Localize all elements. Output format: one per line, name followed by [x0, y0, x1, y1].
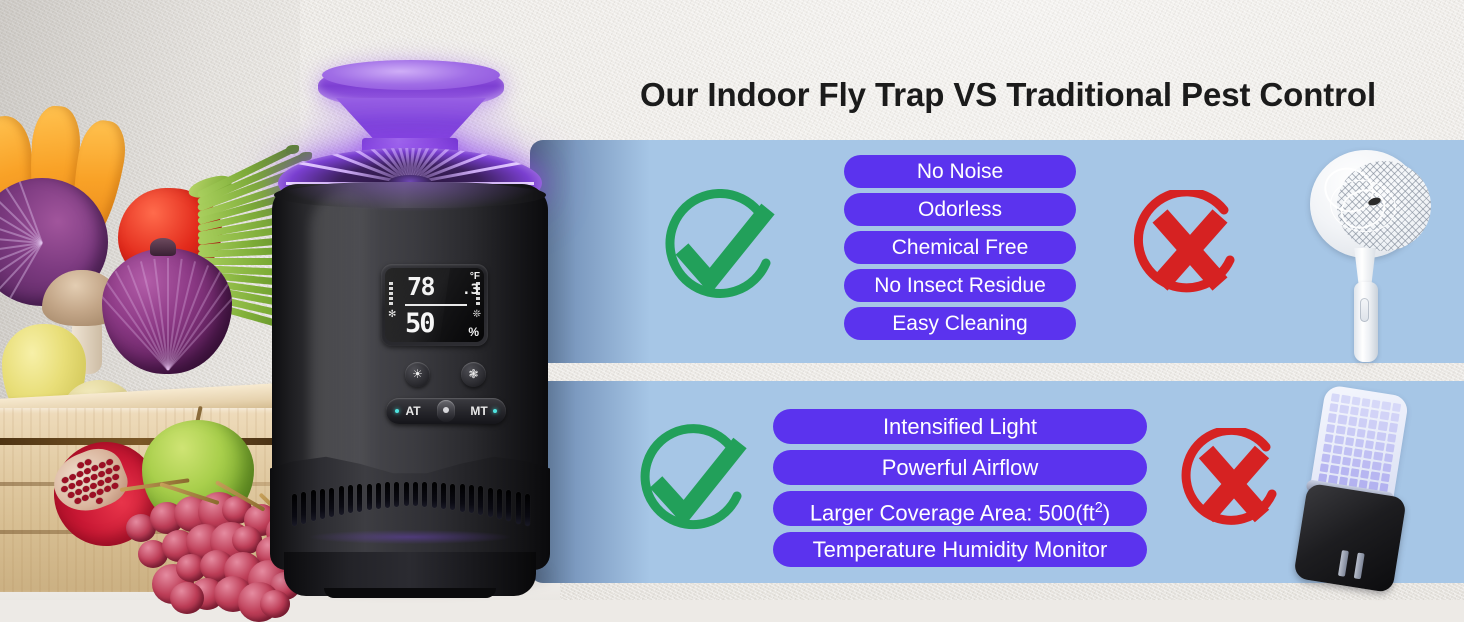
page-title: Our Indoor Fly Trap VS Traditional Pest … — [578, 76, 1438, 114]
cross-mark-icon-top — [1128, 190, 1250, 308]
snowflake-icon: ✻ — [388, 309, 396, 320]
rocker-knob[interactable] — [437, 400, 455, 422]
lcd-humidity-value: 50 — [405, 308, 434, 339]
coverage-superscript: 2 — [1095, 500, 1103, 516]
lcd-temperature-unit: °F — [470, 271, 480, 282]
check-mark-icon-top — [654, 189, 786, 309]
swatter-handle — [1354, 282, 1378, 362]
uv-lamp-disc-top — [322, 60, 500, 90]
coverage-suffix: ) — [1103, 500, 1110, 525]
lcd-temperature-value: 78 — [407, 272, 434, 301]
plugin-base — [1293, 483, 1407, 593]
lcd-temperature-decimal: .3 — [462, 282, 479, 298]
device-foot — [324, 588, 496, 598]
feature-pill[interactable]: Temperature Humidity Monitor — [773, 532, 1147, 567]
feature-pill[interactable]: Intensified Light — [773, 409, 1147, 444]
light-button[interactable]: ☀ — [405, 362, 430, 387]
feature-list-bottom: Intensified Light Powerful Airflow Large… — [773, 409, 1147, 567]
feature-pill[interactable]: Odorless — [844, 193, 1076, 226]
lcd-humidity-unit: % — [468, 325, 479, 339]
feature-pill-coverage[interactable]: Larger Coverage Area: 500(ft2) — [773, 491, 1147, 526]
feature-pill[interactable]: Powerful Airflow — [773, 450, 1147, 485]
cross-mark-icon-bottom — [1176, 428, 1290, 538]
led-indicator-left — [395, 409, 399, 413]
coverage-prefix: Larger Coverage Area: 500(ft — [810, 500, 1095, 525]
red-onion — [102, 248, 232, 374]
feature-pill[interactable]: No Insect Residue — [844, 269, 1076, 302]
check-mark-icon-bottom — [630, 424, 756, 540]
lcd-display-bezel: ✻ ❊ 78 °F .3 50 % — [381, 264, 488, 346]
led-indicator-right — [493, 409, 497, 413]
fan-icon: ❊ — [473, 309, 481, 320]
grape — [170, 582, 204, 614]
swatter-power-switch[interactable] — [1360, 298, 1369, 322]
vent-uv-spill — [310, 530, 510, 544]
onion-root-top — [150, 238, 176, 256]
competitor-plugin-uv-light — [1296, 390, 1416, 590]
feature-pill[interactable]: Chemical Free — [844, 231, 1076, 264]
infographic-canvas: Our Indoor Fly Trap VS Traditional Pest … — [0, 0, 1464, 600]
mode-button-mt[interactable]: MT — [452, 398, 506, 424]
feature-pill[interactable]: No Noise — [844, 155, 1076, 188]
lcd-divider — [405, 304, 467, 306]
feature-pill[interactable]: Easy Cleaning — [844, 307, 1076, 340]
fan-button[interactable]: ❃ — [461, 362, 486, 387]
swatter-scuff-marks — [1310, 150, 1422, 258]
competitor-electric-swatter — [1292, 148, 1452, 363]
swatter-head — [1310, 150, 1422, 258]
lcd-screen: ✻ ❊ 78 °F .3 50 % — [385, 268, 484, 342]
feature-list-top: No Noise Odorless Chemical Free No Insec… — [844, 155, 1076, 340]
indoor-fly-trap-device: ✻ ❊ 78 °F .3 50 % ☀ ❃ AT MT — [258, 52, 558, 592]
lcd-left-bars — [389, 282, 393, 305]
mode-rocker-switch[interactable]: AT MT — [386, 398, 506, 424]
